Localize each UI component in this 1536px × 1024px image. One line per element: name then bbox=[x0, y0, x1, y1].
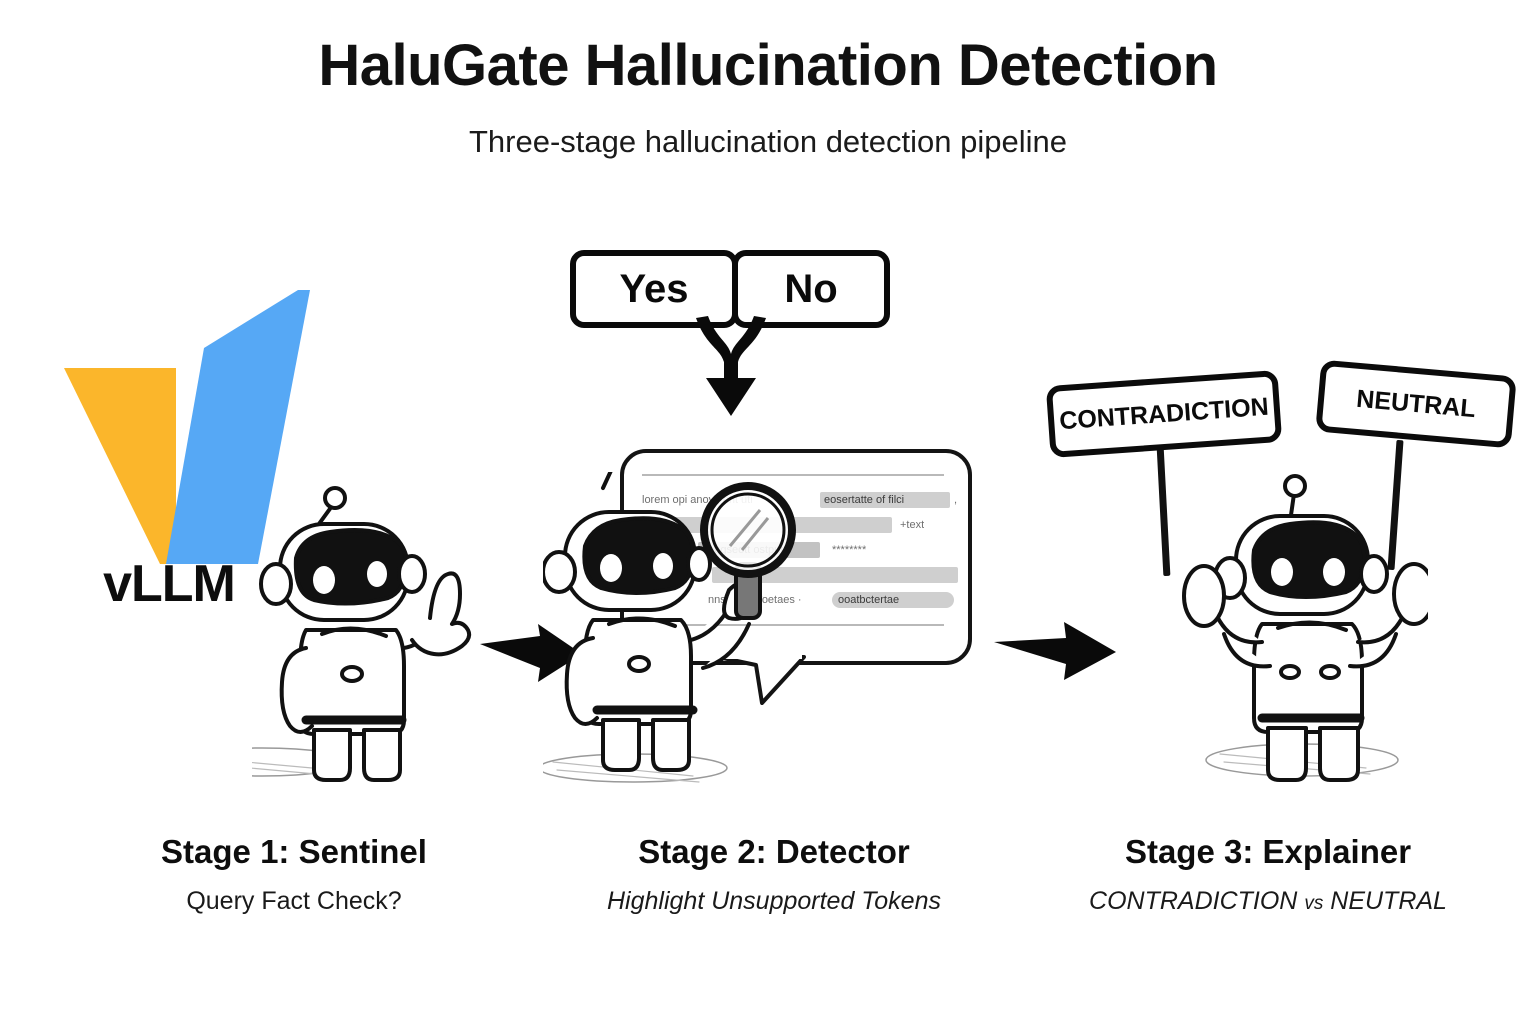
stage-1-subtitle: Query Fact Check? bbox=[44, 886, 544, 916]
down-arrow-icon bbox=[676, 312, 786, 422]
sign-pole-left bbox=[1157, 446, 1171, 576]
stage-3-subtitle-vs: vs bbox=[1304, 893, 1323, 914]
stage-2-subtitle: Highlight Unsupported Tokens bbox=[518, 886, 1030, 916]
stage-3-caption: Stage 3: Explainer CONTRADICTION vs NEUT… bbox=[1018, 832, 1518, 916]
stage-3-subtitle-left: CONTRADICTION bbox=[1089, 887, 1297, 915]
robot-explainer-icon bbox=[1178, 460, 1428, 785]
robot-sentinel-icon bbox=[252, 462, 502, 782]
stage-2-title: Stage 2: Detector bbox=[518, 832, 1030, 872]
sign-neutral[interactable]: NEUTRAL bbox=[1315, 360, 1517, 449]
flow-arrow-2-icon bbox=[992, 620, 1120, 684]
diagram-canvas: HaluGate Hallucination Detection Three-s… bbox=[0, 0, 1536, 1024]
page-title: HaluGate Hallucination Detection bbox=[0, 36, 1536, 97]
stage-1-caption: Stage 1: Sentinel Query Fact Check? bbox=[44, 832, 544, 916]
page-subtitle: Three-stage hallucination detection pipe… bbox=[0, 124, 1536, 160]
stage-3-subtitle-right: NEUTRAL bbox=[1330, 887, 1447, 915]
stage-1-title: Stage 1: Sentinel bbox=[44, 832, 544, 872]
stage-2-caption: Stage 2: Detector Highlight Unsupported … bbox=[518, 832, 1030, 916]
stage-3-title: Stage 3: Explainer bbox=[1018, 832, 1518, 872]
magnifier-icon bbox=[694, 478, 806, 634]
stage-3-subtitle: CONTRADICTION vs NEUTRAL bbox=[1018, 886, 1518, 916]
vllm-wordmark: vLLM bbox=[54, 554, 284, 614]
sign-contradiction[interactable]: CONTRADICTION bbox=[1046, 370, 1282, 458]
